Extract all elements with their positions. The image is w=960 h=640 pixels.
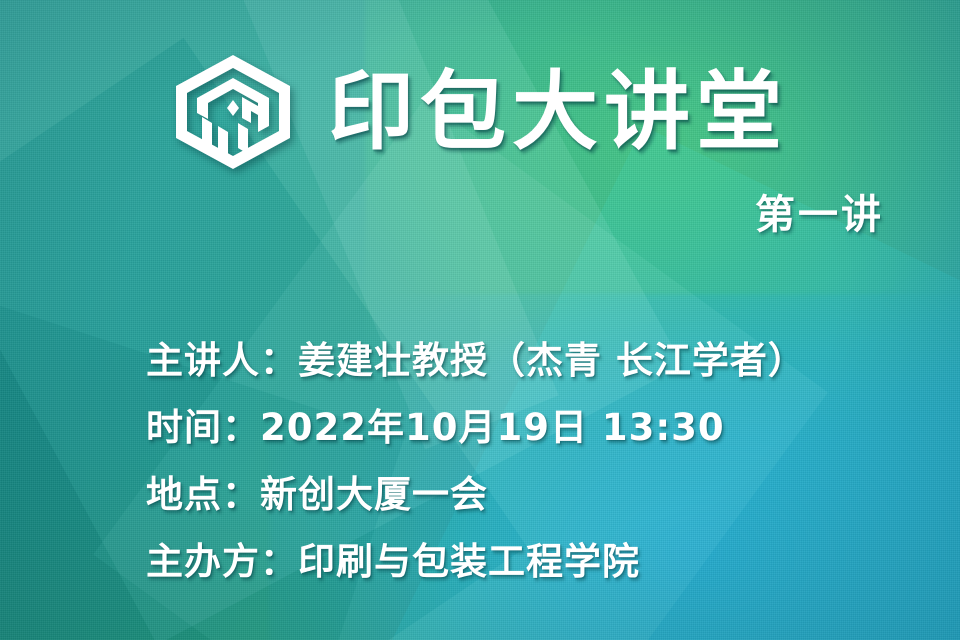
detail-line-time: 时间：2022年10月19日 13:30: [146, 394, 936, 461]
detail-line-speaker: 主讲人：姜建壮教授（杰青 长江学者）: [146, 327, 936, 394]
detail-line-location: 地点：新创大厦一会: [146, 461, 936, 528]
poster-details: 主讲人：姜建壮教授（杰青 长江学者） 时间：2022年10月19日 13:30 …: [146, 327, 936, 595]
poster-content: 印包大讲堂 第一讲 主讲人：姜建壮教授（杰青 长江学者） 时间：2022年10月…: [0, 0, 960, 640]
detail-line-organizer: 主办方：印刷与包装工程学院: [146, 528, 936, 595]
page-title: 印包大讲堂: [328, 69, 788, 155]
poster-subtitle: 第一讲: [0, 182, 884, 240]
poster-header: 印包大讲堂: [0, 52, 960, 172]
lecture-poster: 印包大讲堂 第一讲 主讲人：姜建壮教授（杰青 长江学者） 时间：2022年10月…: [0, 0, 960, 640]
hexagon-cube-logo-icon: [172, 53, 294, 171]
